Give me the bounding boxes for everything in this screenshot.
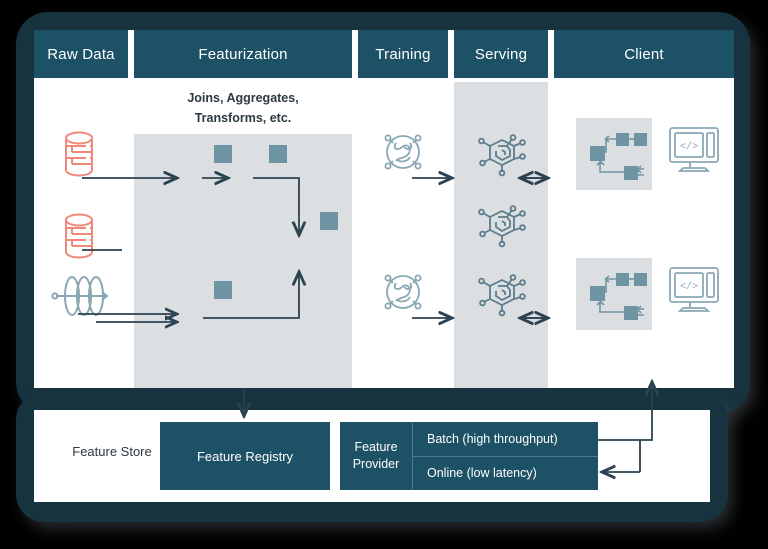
column-body-serving — [454, 82, 548, 388]
diagram-canvas: Raw Data — [0, 0, 768, 549]
column-training: Training — [358, 30, 448, 388]
column-header-training: Training — [358, 30, 448, 78]
svg-text:</>: </> — [680, 281, 698, 293]
column-header-raw-data: Raw Data — [34, 30, 128, 78]
database-icon — [59, 128, 99, 185]
column-serving: Serving — [454, 30, 548, 388]
feature-provider-label-line2: Provider — [353, 457, 400, 471]
column-header-serving: Serving — [454, 30, 548, 78]
feature-node — [214, 281, 232, 299]
feature-node — [269, 145, 287, 163]
code-monitor-icon: </> — [666, 264, 722, 323]
feature-node — [320, 212, 338, 230]
feature-store-label: Feature Store — [52, 444, 172, 459]
featurization-hint: Joins, Aggregates, Transforms, etc. — [134, 88, 352, 128]
feature-provider-rows: Batch (high throughput) Online (low late… — [413, 422, 598, 490]
featurization-hint-line1: Joins, Aggregates, — [187, 91, 298, 105]
column-body-client: </> — [554, 82, 734, 388]
feature-provider-box: Feature Provider Batch (high throughput)… — [340, 422, 598, 490]
column-client: Client — [554, 30, 734, 388]
model-training-icon — [378, 127, 428, 182]
feature-provider-label: Feature Provider — [340, 422, 413, 490]
column-body-raw-data — [34, 82, 128, 388]
featurization-shaded-region — [134, 134, 352, 388]
feature-provider-label-line1: Feature — [354, 440, 397, 454]
provider-row-batch[interactable]: Batch (high throughput) — [413, 422, 598, 457]
app-flow-icon — [576, 258, 652, 335]
feature-node — [214, 145, 232, 163]
model-serving-chip-icon — [476, 126, 528, 183]
column-raw-data: Raw Data — [34, 30, 128, 388]
stream-icon — [50, 270, 112, 327]
feature-store-panel: Feature Store Feature Registry Feature P… — [34, 410, 710, 502]
provider-row-online[interactable]: Online (low latency) — [413, 457, 598, 491]
code-monitor-icon: </> — [666, 124, 722, 183]
column-header-featurization: Featurization — [134, 30, 352, 78]
column-header-client: Client — [554, 30, 734, 78]
column-body-training — [358, 82, 448, 388]
pipeline-board: Raw Data — [34, 30, 734, 388]
column-body-featurization: Joins, Aggregates, Transforms, etc. — [134, 82, 352, 388]
model-serving-chip-icon — [476, 266, 528, 323]
model-serving-chip-icon — [476, 197, 528, 254]
column-featurization: Featurization Joins, Aggregates, Transfo… — [134, 30, 352, 388]
svg-text:</>: </> — [680, 141, 698, 153]
feature-registry-box[interactable]: Feature Registry — [160, 422, 330, 490]
featurization-hint-line2: Transforms, etc. — [195, 111, 292, 125]
database-icon — [59, 210, 99, 267]
model-training-icon — [378, 267, 428, 322]
app-flow-icon — [576, 118, 652, 195]
